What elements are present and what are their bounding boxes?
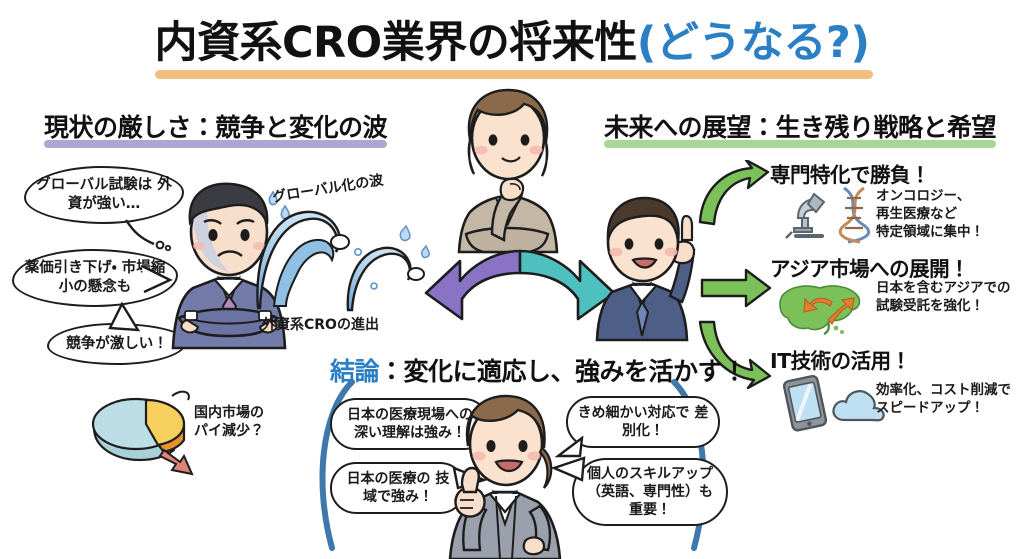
fine-support-bubble: きめ細かい対応で 差別化！ [566, 396, 720, 448]
title-main: 内資系CRO業界の将来性 [155, 18, 637, 68]
skill-up-bubble-text: 個人のスキルアップ （英語、専門性）も 重要！ [582, 465, 718, 520]
thumbs-up-woman [438, 392, 574, 559]
left-section-heading-text: 現状の厳しさ：競争と変化の波 [44, 113, 387, 142]
left-section-heading: 現状の厳しさ：競争と変化の波 [44, 108, 387, 144]
strategy-3-title-wrap: IT技術の活用！ [770, 344, 911, 376]
left-heading-underline [44, 140, 387, 148]
wave-caption: 外資系CROの進出 [262, 316, 379, 334]
thinking-woman [448, 84, 568, 254]
strategy-3-title: IT技術の活用！ [770, 344, 911, 376]
right-section-heading-text: 未来への展望：生き残り戦略と希望 [604, 113, 996, 142]
right-section-heading: 未来への展望：生き残り戦略と希望 [604, 108, 996, 144]
green-arrow-to-strategy-2 [700, 268, 774, 310]
title-underline [155, 70, 874, 79]
strategy-2-description: 日本を含むアジアでの 試験受託を強化！ [876, 280, 1010, 316]
right-heading-underline [604, 140, 996, 148]
competition-bubble-tail [104, 300, 148, 338]
infographic-canvas: 内資系CRO業界の将来性(どうなる?) 現状の厳しさ：競争と変化の波 未来への展… [0, 0, 1024, 559]
global-trial-bubble: グローバル試験は 外資が強い… [24, 166, 184, 224]
domestic-market-pie-chart [88, 382, 200, 478]
page-title: 内資系CRO業界の将来性(どうなる?) [0, 8, 1024, 76]
global-trial-bubble-text: グローバル試験は 外資が強い… [34, 176, 174, 214]
pointing-up-businessman [590, 196, 702, 342]
dna-icon [832, 186, 876, 244]
tablet-icon [780, 374, 832, 432]
globalization-wave-illustration [256, 200, 442, 320]
fine-support-bubble-text: きめ細かい対応で 差別化！ [576, 404, 710, 440]
strategy-1-title-text: 専門特化で勝負！ [770, 163, 930, 187]
skill-up-bubble: 個人のスキルアップ （英語、専門性）も 重要！ [572, 458, 728, 526]
green-arrow-to-strategy-1 [694, 160, 770, 228]
strategy-3-description: 効率化、コスト削減で スピードアップ！ [876, 382, 1011, 418]
title-sub: (どうなる?) [637, 18, 870, 68]
microscope-icon [778, 190, 830, 242]
asia-map-icon [776, 278, 872, 338]
strategy-1-description: オンコロジー、 再生医療など 特定領域に集中！ [876, 188, 984, 241]
pie-chart-label: 国内市場の パイ減少？ [194, 404, 264, 440]
strategy-3-title-text: IT技術の活用！ [770, 349, 911, 373]
title-text: 内資系CRO業界の将来性(どうなる?) [149, 8, 876, 76]
